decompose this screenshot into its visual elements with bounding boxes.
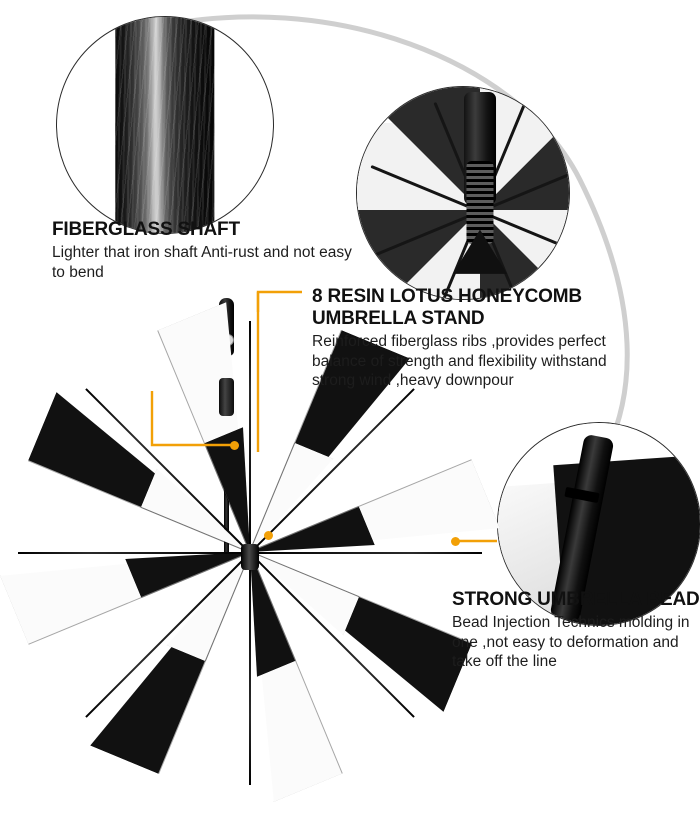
fiber-texture xyxy=(115,16,214,234)
leader-dot-shaft xyxy=(230,441,239,450)
canopy-rib xyxy=(18,552,250,554)
shaft-highlight xyxy=(149,16,163,234)
callout-title: FIBERGLASS SHAFT xyxy=(52,219,352,241)
umbrella-canopy xyxy=(0,370,500,700)
canopy-rib xyxy=(250,552,482,554)
umbrella-runner xyxy=(219,378,234,416)
canopy-hub xyxy=(241,544,259,570)
fiberglass-shaft-photo xyxy=(57,17,273,233)
callout-body: Lighter that iron shaft Anti-rust and no… xyxy=(52,243,352,282)
callout-title: STRONG UMBRELLA BEAD xyxy=(452,589,700,611)
callout-body: Reinforced fiberglass ribs ,provides per… xyxy=(312,332,642,391)
inset-umbrella-stand xyxy=(356,86,570,300)
infographic-stage: FIBERGLASS SHAFT Lighter that iron shaft… xyxy=(0,0,700,700)
canopy-rib xyxy=(249,553,251,785)
leader-dot-bead xyxy=(451,537,460,546)
callout-fiberglass-shaft: FIBERGLASS SHAFT Lighter that iron shaft… xyxy=(52,219,352,282)
canopy-rib xyxy=(249,321,251,553)
shaft-rod xyxy=(115,16,214,234)
inset-fiberglass-shaft xyxy=(56,16,274,234)
umbrella-stand-photo xyxy=(357,87,570,300)
leader-dot-stand xyxy=(264,531,273,540)
callout-umbrella-stand: 8 RESIN LOTUS HONEYCOMB UMBRELLA STAND R… xyxy=(312,286,642,391)
callout-body: Bead Injection Technics molding in one ,… xyxy=(452,613,700,672)
callout-umbrella-bead: STRONG UMBRELLA BEAD Bead Injection Tech… xyxy=(452,589,700,672)
callout-title: 8 RESIN LOTUS HONEYCOMB UMBRELLA STAND xyxy=(312,286,642,330)
